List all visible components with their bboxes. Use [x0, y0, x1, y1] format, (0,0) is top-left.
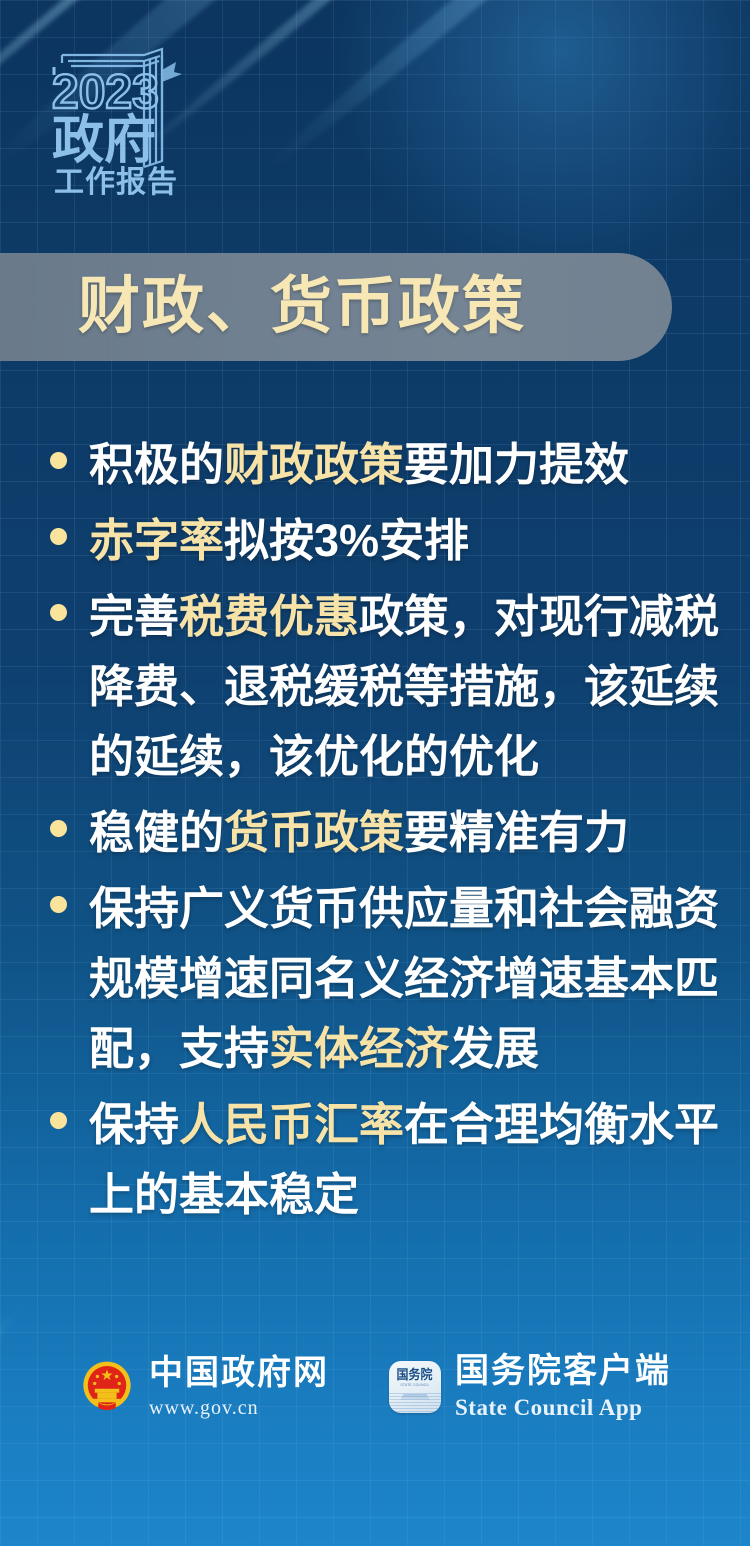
list-item-text: 稳健的货币政策要精准有力	[89, 798, 750, 868]
brand-gov-site-text: 中国政府网 www.gov.cn	[149, 1354, 329, 1420]
bullet-dot-icon	[50, 896, 67, 913]
bullet-dot-icon	[50, 820, 67, 837]
highlighted-term: 税费优惠	[179, 591, 359, 642]
bullet-dot-icon	[50, 452, 67, 469]
brand-state-council-app-name-en: State Council App	[455, 1394, 671, 1422]
book-outline-icon: 2023 政府 工作报告	[44, 40, 204, 200]
plain-text: 要加力提效	[404, 439, 629, 490]
bullet-dot-icon	[50, 604, 67, 621]
logo-line1: 政府	[52, 112, 156, 170]
list-item: 保持广义货币供应量和社会融资规模增速同名义经济增速基本匹配，支持实体经济发展	[0, 874, 750, 1084]
brand-state-council-app-text: 国务院客户端 State Council App	[455, 1352, 671, 1422]
plain-text: 完善	[89, 591, 179, 642]
app-icon-building-base	[389, 1393, 441, 1413]
list-item-text: 完善税费优惠政策，对现行减税降费、退税缓税等措施，该延续的延续，该优化的优化	[89, 582, 750, 792]
highlighted-term: 实体经济	[269, 1023, 449, 1074]
plain-text: 拟按3%安排	[224, 515, 469, 566]
plain-text: 发展	[449, 1023, 539, 1074]
plain-text: 积极的	[89, 439, 224, 490]
list-item-text: 赤字率拟按3%安排	[89, 506, 750, 576]
light-streak	[261, 0, 704, 177]
state-council-app-icon: 国务院 STATE COUNCIL	[389, 1361, 441, 1413]
plain-text: 稳健的	[89, 807, 224, 858]
list-item: 保持人民币汇率在合理均衡水平上的基本稳定	[0, 1090, 750, 1230]
plain-text: 要精准有力	[404, 807, 629, 858]
highlighted-term: 赤字率	[89, 515, 224, 566]
policy-bullet-list: 积极的财政政策要加力提效赤字率拟按3%安排完善税费优惠政策，对现行减税降费、退税…	[0, 430, 750, 1236]
bullet-dot-icon	[50, 528, 67, 545]
list-item: 积极的财政政策要加力提效	[0, 430, 750, 500]
list-item-text: 积极的财政政策要加力提效	[89, 430, 750, 500]
brand-state-council-app[interactable]: 国务院 STATE COUNCIL 国务院客户端 State Council A…	[389, 1352, 671, 1422]
highlighted-term: 人民币汇率	[179, 1099, 404, 1150]
national-emblem-icon	[79, 1359, 135, 1415]
highlighted-term: 货币政策	[224, 807, 404, 858]
bullet-dot-icon	[50, 1112, 67, 1129]
background-glow	[330, 0, 750, 280]
app-icon-label-en: STATE COUNCIL	[400, 1383, 429, 1387]
report-logo: 2023 政府 工作报告	[44, 40, 204, 200]
app-icon-label-cn: 国务院	[397, 1368, 433, 1381]
list-item: 完善税费优惠政策，对现行减税降费、退税缓税等措施，该延续的延续，该优化的优化	[0, 582, 750, 792]
poster-root: 2023 政府 工作报告 财政、货币政策 积极的财政政策要加力提效赤字率拟按3%…	[0, 0, 750, 1546]
brand-gov-site-url: www.gov.cn	[149, 1396, 329, 1420]
highlighted-term: 财政政策	[224, 439, 404, 490]
list-item: 赤字率拟按3%安排	[0, 506, 750, 576]
page-title: 财政、货币政策	[78, 276, 526, 338]
plain-text: 保持	[89, 1099, 179, 1150]
logo-line2: 工作报告	[54, 166, 178, 199]
brand-gov-site-name: 中国政府网	[149, 1354, 329, 1393]
list-item-text: 保持广义货币供应量和社会融资规模增速同名义经济增速基本匹配，支持实体经济发展	[89, 874, 750, 1084]
brand-state-council-app-name: 国务院客户端	[455, 1352, 671, 1391]
list-item-text: 保持人民币汇率在合理均衡水平上的基本稳定	[89, 1090, 750, 1230]
section-title-banner: 财政、货币政策	[0, 253, 672, 361]
footer-brands: 中国政府网 www.gov.cn 国务院 STATE COUNCIL 国务院客户…	[0, 1327, 750, 1447]
list-item: 稳健的货币政策要精准有力	[0, 798, 750, 868]
brand-gov-site[interactable]: 中国政府网 www.gov.cn	[79, 1354, 329, 1420]
